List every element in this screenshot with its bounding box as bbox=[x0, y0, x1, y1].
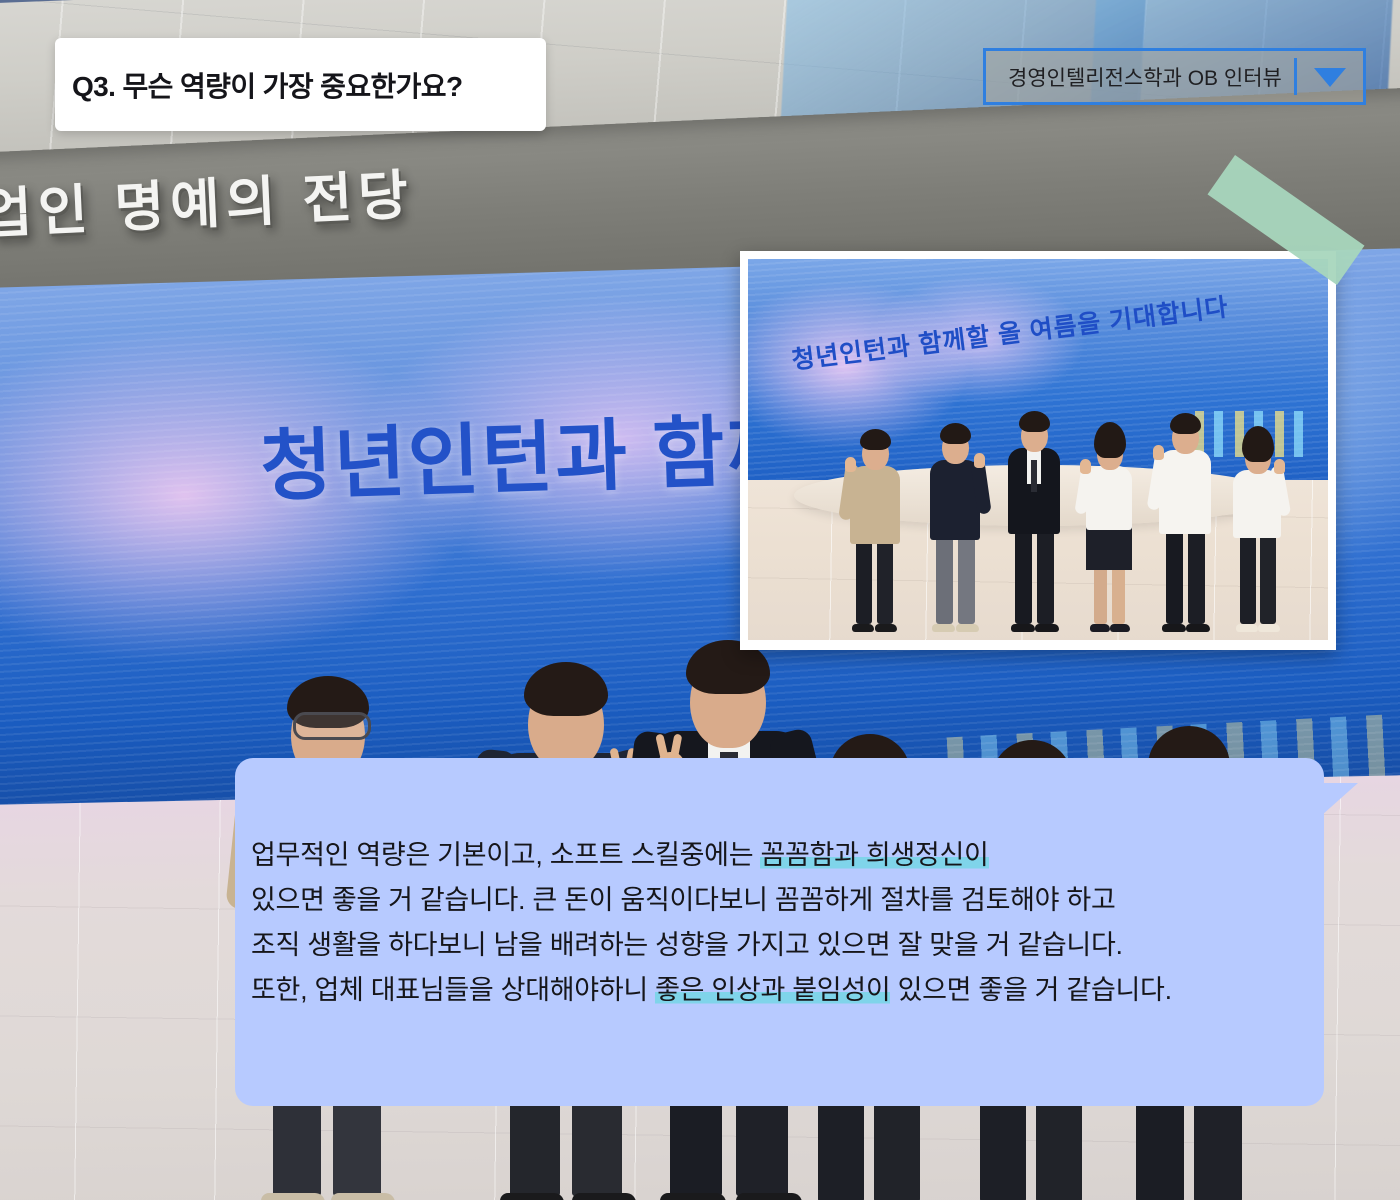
shoe bbox=[1236, 624, 1258, 632]
answer-text-run: 있으면 좋을 거 같습니다. bbox=[890, 975, 1171, 1005]
shoe bbox=[932, 624, 955, 632]
shoe bbox=[660, 1193, 726, 1200]
shoe bbox=[261, 1193, 325, 1200]
leg bbox=[958, 534, 975, 624]
answer-line: 또한, 업체 대표님들을 상대해야하니 좋은 인상과 붙임성이 있으면 좋을 거… bbox=[251, 968, 1331, 1013]
speech-bubble-tail bbox=[1322, 783, 1358, 815]
inset-person-2 bbox=[920, 370, 990, 632]
answer-text-run: 업무적인 역량은 기본이고, 소프트 스킬중에는 bbox=[251, 840, 760, 870]
leg bbox=[1112, 562, 1125, 624]
leg bbox=[1260, 532, 1276, 624]
hair bbox=[1094, 422, 1126, 458]
inset-person-5 bbox=[1148, 356, 1220, 632]
skirt bbox=[1086, 526, 1132, 570]
shoe bbox=[1035, 624, 1059, 632]
answer-line: 있으면 좋을 거 같습니다. 큰 돈이 움직이다보니 꼼꼼하게 절차를 검토해야… bbox=[251, 878, 1331, 923]
shoe bbox=[500, 1193, 564, 1200]
torso bbox=[1086, 466, 1132, 530]
shoe bbox=[875, 624, 897, 632]
shoe bbox=[331, 1193, 395, 1200]
answer-text-run: 있으면 좋을 거 같습니다. 큰 돈이 움직이다보니 꼼꼼하게 절차를 검토해야… bbox=[251, 885, 1116, 915]
answer-text: 업무적인 역량은 기본이고, 소프트 스킬중에는 꼼꼼함과 희생정신이있으면 좋… bbox=[251, 833, 1331, 1013]
shoe bbox=[1011, 624, 1035, 632]
leg bbox=[856, 538, 872, 624]
hand-v-sign bbox=[1274, 459, 1285, 474]
highlighted-phrase: 좋은 인상과 붙임성이 bbox=[655, 975, 890, 1005]
chevron-down-icon[interactable] bbox=[1297, 51, 1363, 102]
highlighted-phrase: 꼼꼼함과 희생정신이 bbox=[760, 840, 988, 870]
page-title: Q3. 무슨 역량이 가장 중요한가요? bbox=[55, 65, 462, 105]
hair bbox=[524, 662, 608, 716]
answer-line: 조직 생활을 하다보니 남을 배려하는 성향을 가지고 있으면 잘 맞을 거 같… bbox=[251, 923, 1331, 968]
shoe bbox=[1186, 624, 1210, 632]
leg bbox=[1015, 528, 1032, 624]
shoe bbox=[956, 624, 979, 632]
hand-v-sign bbox=[1080, 459, 1091, 474]
shoe bbox=[1162, 624, 1186, 632]
shoe bbox=[1258, 624, 1280, 632]
hair bbox=[860, 429, 891, 450]
hand-v-sign bbox=[845, 457, 856, 472]
inset-person-4 bbox=[1074, 376, 1144, 632]
inset-person-1 bbox=[840, 376, 910, 632]
inset-person-6 bbox=[1222, 378, 1292, 632]
hair bbox=[1019, 411, 1050, 432]
leg bbox=[1094, 562, 1107, 624]
necktie bbox=[1031, 460, 1037, 492]
hand-v-sign bbox=[974, 453, 985, 468]
hair bbox=[940, 423, 971, 444]
shoe bbox=[852, 624, 874, 632]
question-title-card: Q3. 무슨 역량이 가장 중요한가요? bbox=[55, 38, 546, 131]
leg bbox=[877, 538, 893, 624]
leg bbox=[1166, 528, 1183, 624]
inset-person-3 bbox=[998, 354, 1070, 632]
inset-photo-image: 청년인턴과 함께할 올 여름을 기대합니다 bbox=[748, 259, 1328, 640]
answer-text-run: 조직 생활을 하다보니 남을 배려하는 성향을 가지고 있으면 잘 맞을 거 같… bbox=[251, 930, 1123, 960]
hand-v-sign bbox=[1153, 445, 1164, 460]
hair bbox=[1170, 413, 1201, 434]
slide-canvas: 업인 명예의 전당 청년인턴과 함께할 bbox=[0, 0, 1400, 1200]
leg bbox=[1240, 532, 1256, 624]
shoe bbox=[1090, 624, 1110, 632]
leg bbox=[1037, 528, 1054, 624]
leg bbox=[1188, 528, 1205, 624]
shoe bbox=[1110, 624, 1130, 632]
answer-line: 업무적인 역량은 기본이고, 소프트 스킬중에는 꼼꼼함과 희생정신이 bbox=[251, 833, 1331, 878]
leg bbox=[936, 534, 953, 624]
series-dropdown[interactable]: 경영인텔리전스학과 OB 인터뷰 bbox=[983, 48, 1366, 105]
glasses bbox=[293, 712, 371, 740]
inset-photo-frame: 청년인턴과 함께할 올 여름을 기대합니다 bbox=[740, 251, 1336, 650]
series-dropdown-label: 경영인텔리전스학과 OB 인터뷰 bbox=[986, 51, 1294, 102]
hair bbox=[1242, 426, 1274, 462]
answer-text-run: 또한, 업체 대표님들을 상대해야하니 bbox=[251, 975, 655, 1005]
